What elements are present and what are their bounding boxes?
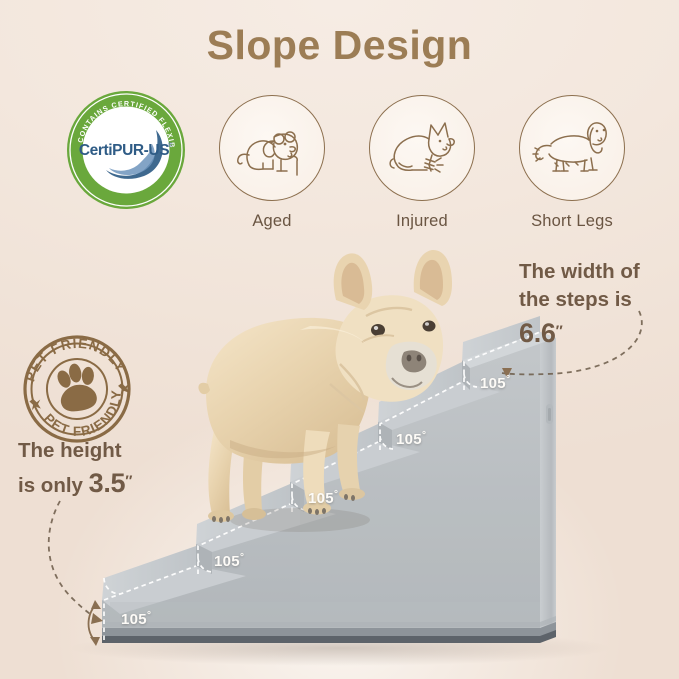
width-callout: The width of the steps is 6.6″ bbox=[519, 258, 679, 352]
paw-print-icon bbox=[54, 360, 102, 414]
height-callout-arrowhead bbox=[91, 613, 103, 624]
angle-label-step-2: 105° bbox=[214, 552, 244, 570]
width-callout-line1: The width of bbox=[519, 258, 679, 286]
pet-friendly-stamp: PET FRIENDLY PET FRIENDLY bbox=[18, 333, 136, 445]
angle-label-step-3: 105° bbox=[308, 489, 338, 507]
height-callout-leader bbox=[49, 501, 100, 621]
height-callout-line1: The height bbox=[18, 437, 132, 465]
svg-text:PET FRIENDLY: PET FRIENDLY bbox=[18, 333, 130, 391]
angle-label-step-1: 105° bbox=[121, 610, 151, 628]
angle-label-step-5: 105° bbox=[480, 374, 510, 392]
angle-label-step-4: 105° bbox=[396, 430, 426, 448]
width-callout-line2: the steps is 6.6″ bbox=[519, 286, 679, 352]
infographic-canvas: Slope Design CONTAINS CERTIFIED FLEXIBLE… bbox=[0, 0, 679, 679]
height-callout: The height is only 3.5″ bbox=[18, 437, 132, 503]
zipper-pull-icon bbox=[546, 404, 553, 424]
height-callout-line2: is only 3.5″ bbox=[18, 465, 132, 502]
